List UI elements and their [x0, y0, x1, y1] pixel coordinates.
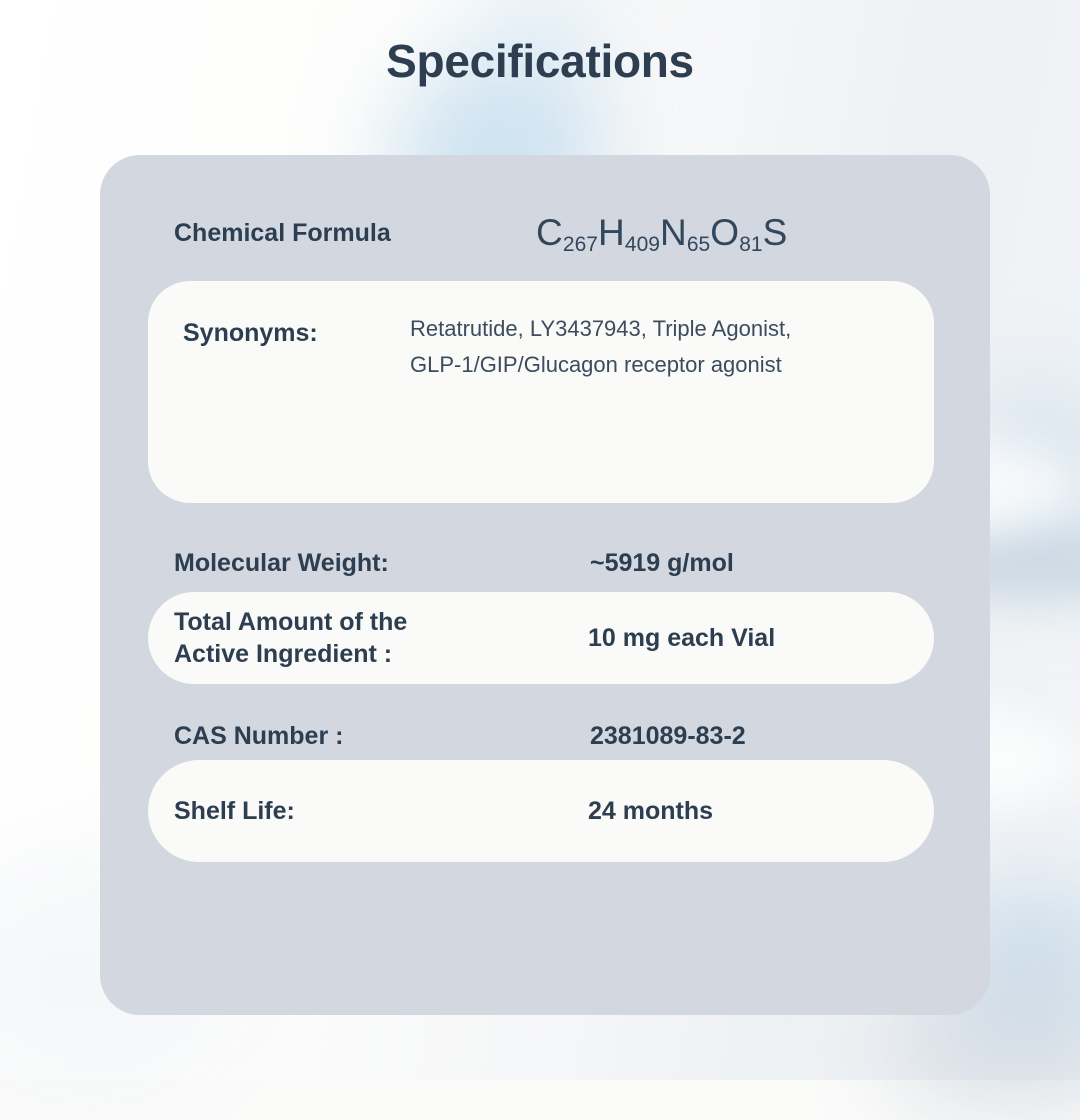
spec-value-chemical-formula: C267H409N65O81S [536, 212, 787, 254]
spec-label-chemical-formula: Chemical Formula [150, 217, 440, 249]
page-title: Specifications [0, 34, 1080, 88]
spec-label-total-amount: Total Amount of the Active Ingredient : [148, 606, 588, 670]
spec-label-shelf-life: Shelf Life: [148, 795, 588, 827]
spec-row-molecular-weight: Molecular Weight: ~5919 g/mol [150, 535, 934, 591]
spec-row-cas-number: CAS Number : 2381089-83-2 [150, 708, 934, 764]
spec-label-molecular-weight: Molecular Weight: [150, 547, 590, 579]
spec-row-total-amount: Total Amount of the Active Ingredient : … [148, 592, 934, 684]
spec-row-shelf-life: Shelf Life: 24 months [148, 760, 934, 862]
spec-label-total-amount-line2: Active Ingredient : [174, 640, 392, 668]
spec-value-shelf-life: 24 months [588, 795, 713, 827]
spec-row-chemical-formula: Chemical Formula C267H409N65O81S [150, 203, 934, 263]
spec-label-synonyms: Synonyms: [148, 311, 410, 349]
spec-row-synonyms: Synonyms: Retatrutide, LY3437943, Triple… [148, 281, 934, 503]
spec-value-cas-number: 2381089-83-2 [590, 720, 746, 752]
spec-label-cas-number: CAS Number : [150, 720, 590, 752]
spec-label-total-amount-line1: Total Amount of the [174, 608, 407, 636]
specifications-card: Chemical Formula C267H409N65O81S Synonym… [100, 155, 990, 1015]
spec-value-synonyms: Retatrutide, LY3437943, Triple Agonist, … [410, 311, 810, 382]
spec-value-total-amount: 10 mg each Vial [588, 622, 775, 654]
spec-value-molecular-weight: ~5919 g/mol [590, 547, 734, 579]
